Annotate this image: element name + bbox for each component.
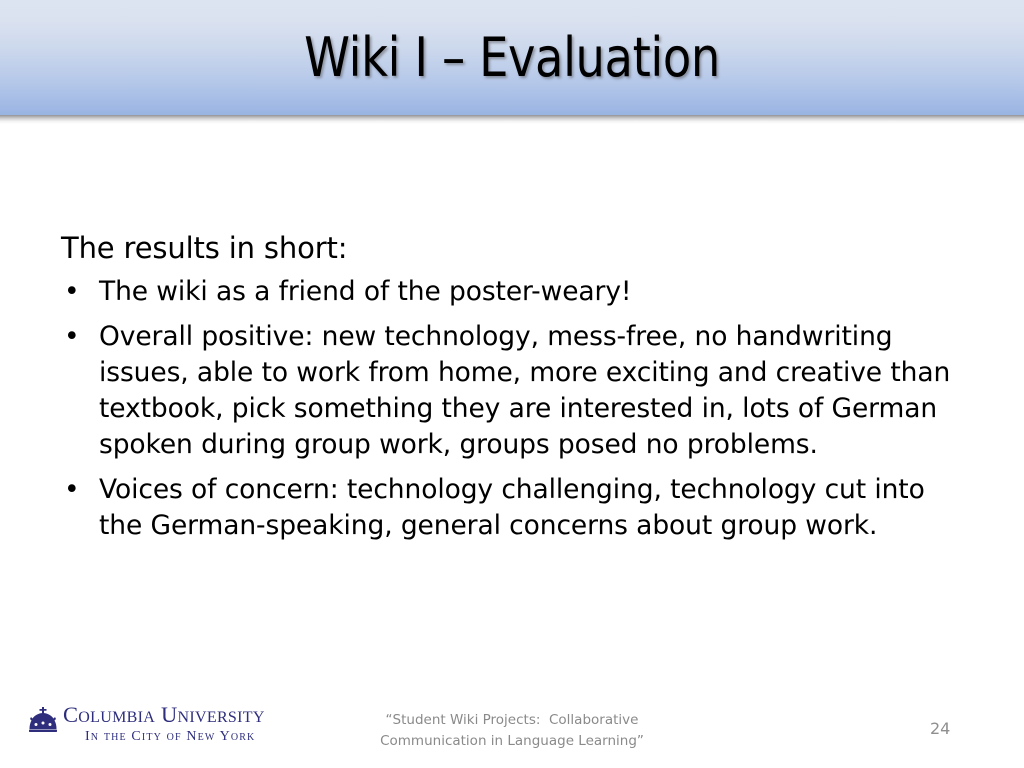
list-item-text: Voices of concern: technology challengin…: [99, 474, 925, 541]
citation-line-1: “Student Wiki Projects: Collaborative: [352, 710, 672, 731]
list-item: • Overall positive: new technology, mess…: [61, 319, 973, 463]
slide-body: The results in short: • The wiki as a fr…: [61, 228, 973, 544]
columbia-university-logo: Columbia University In the City of New Y…: [28, 703, 265, 745]
lead-text: The results in short:: [61, 228, 973, 268]
citation-line-2: Communication in Language Learning”: [352, 731, 672, 752]
list-item-text: The wiki as a friend of the poster-weary…: [99, 276, 631, 307]
bullet-icon: •: [64, 274, 80, 310]
title-banner-shadow: [0, 115, 1024, 124]
list-item-text: Overall positive: new technology, mess-f…: [99, 321, 950, 460]
crown-icon: [28, 707, 58, 733]
slide-title: Wiki I – Evaluation: [72, 0, 953, 115]
list-item: • The wiki as a friend of the poster-wea…: [61, 274, 973, 310]
bullet-list: • The wiki as a friend of the poster-wea…: [61, 274, 973, 544]
bullet-icon: •: [64, 472, 80, 508]
logo-line-secondary: In the City of New York: [85, 728, 265, 745]
logo-line-primary: Columbia University: [63, 703, 265, 727]
page-number: 24: [930, 719, 974, 739]
bullet-icon: •: [64, 319, 80, 355]
citation-text: “Student Wiki Projects: Collaborative Co…: [352, 710, 672, 752]
logo-wordmark: Columbia University In the City of New Y…: [63, 703, 265, 745]
list-item: • Voices of concern: technology challeng…: [61, 472, 973, 544]
